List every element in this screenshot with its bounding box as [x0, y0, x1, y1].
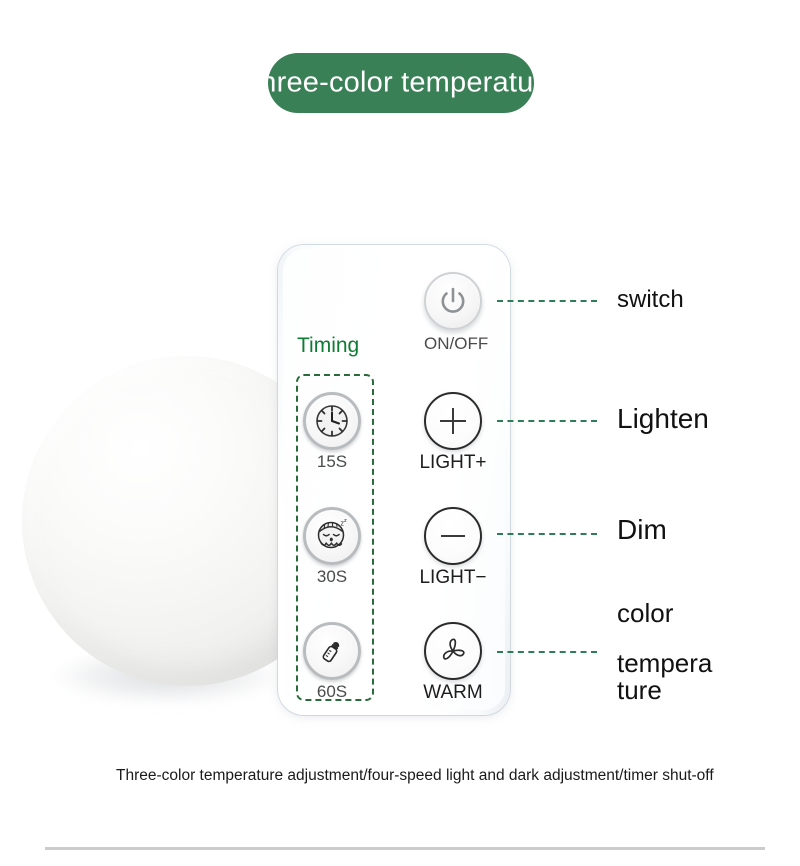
- callout-line-dim: [497, 533, 597, 535]
- callout-line-switch: [497, 300, 597, 302]
- light-decrease-button[interactable]: [424, 507, 482, 565]
- sleeping-baby-icon: z z: [312, 516, 352, 556]
- callout-dim: Dim: [617, 513, 667, 546]
- warm-color-button[interactable]: [424, 622, 482, 680]
- headline-banner-text: Three-color temperature: [268, 67, 534, 100]
- light-increase-label: LIGHT+: [414, 452, 492, 474]
- callout-switch: switch: [617, 286, 684, 314]
- light-increase-button[interactable]: [424, 392, 482, 450]
- callout-line-color-temperature: [497, 651, 597, 653]
- power-button-label: ON/OFF: [424, 334, 482, 354]
- light-decrease-label: LIGHT−: [414, 567, 492, 589]
- headline-banner: Three-color temperature: [268, 53, 534, 113]
- product-detail-page: Three-color temperature Timing ON/OFF: [0, 0, 800, 866]
- power-button[interactable]: [424, 272, 482, 330]
- svg-text:z: z: [344, 518, 347, 524]
- feature-caption: Three-color temperature adjustment/four-…: [116, 766, 716, 786]
- timer-15s-label: 15S: [303, 452, 361, 472]
- timer-30s-button[interactable]: z z: [303, 507, 361, 565]
- callout-lighten: Lighten: [617, 402, 709, 435]
- timer-60s-label: 60S: [303, 682, 361, 702]
- fan-blades-icon: [435, 633, 471, 669]
- power-icon: [436, 284, 470, 318]
- callout-color: color: [617, 598, 673, 629]
- warm-color-label: WARM: [414, 682, 492, 704]
- plus-icon: [436, 404, 470, 438]
- callout-line-lighten: [497, 420, 597, 422]
- clock-icon: [312, 401, 352, 441]
- callout-temperature-line2: ture: [617, 675, 662, 706]
- timing-group-label: Timing: [297, 334, 359, 358]
- timer-60s-button[interactable]: [303, 622, 361, 680]
- baby-bottle-icon: [312, 631, 352, 671]
- timer-15s-button[interactable]: [303, 392, 361, 450]
- timer-30s-label: 30S: [303, 567, 361, 587]
- minus-icon: [436, 519, 470, 553]
- section-divider: [45, 847, 765, 850]
